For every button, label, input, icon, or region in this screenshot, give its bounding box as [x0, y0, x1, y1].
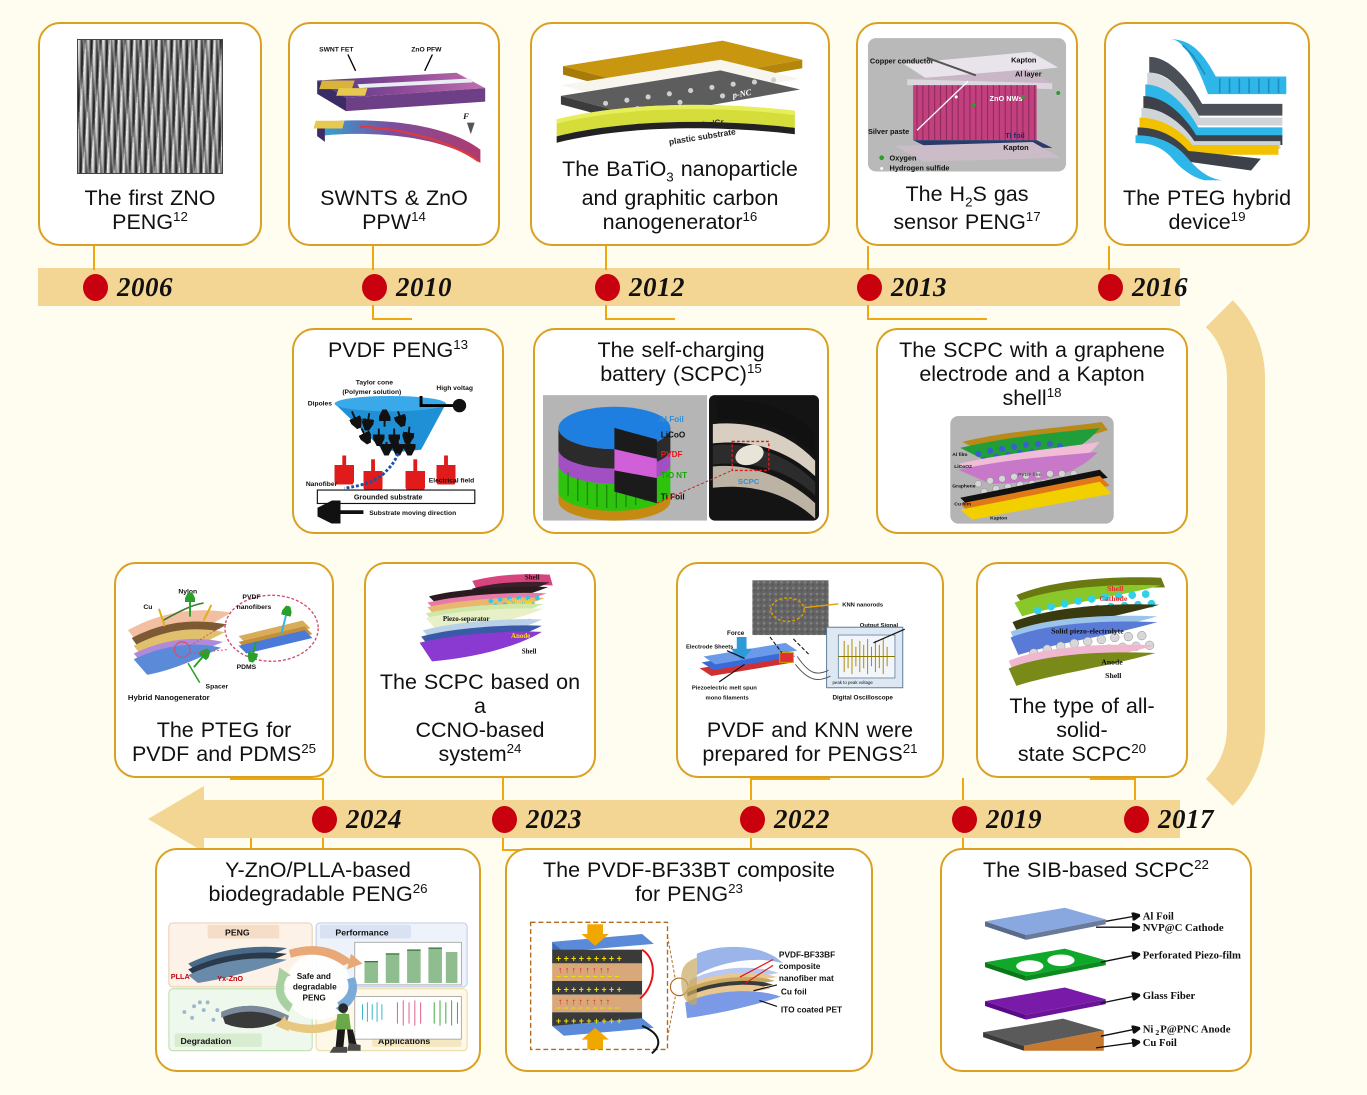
svg-text:composite: composite	[779, 962, 821, 972]
pvdf-bf33bt-svg: + + + + + + + + + + + + + + + + + + + + …	[515, 910, 863, 1064]
svg-text:SCPC: SCPC	[738, 477, 760, 486]
svg-text:Piezo-separator: Piezo-separator	[443, 615, 490, 623]
svg-text:Dipoles: Dipoles	[308, 401, 333, 408]
svg-text:TiO: TiO	[661, 471, 675, 480]
card-pvdf-knn-pengs[interactable]: PVDF and KNN were prepared for PENGS21 K…	[676, 562, 944, 778]
sem-image	[77, 39, 224, 174]
card-caption: Y-ZnO/PLLA-based biodegradable PENG26	[165, 856, 471, 910]
year-marker-2016[interactable]: 2016	[1098, 268, 1188, 306]
ccno-stack-svg: Shell Cathode Piezo-separator Anode Shel…	[374, 570, 586, 668]
connector-2013-down-v	[867, 305, 869, 319]
svg-text:Hydrogen sulfide: Hydrogen sulfide	[890, 163, 950, 172]
year-label: 2012	[629, 272, 685, 303]
sib-stack-svg: Al Foil NVP@C Cathode Perforated Piezo-f…	[950, 886, 1242, 1064]
year-dot-icon	[857, 274, 882, 301]
svg-text:Performance: Performance	[335, 928, 388, 938]
svg-text:nanofibers: nanofibers	[237, 604, 272, 611]
svg-text:Nylon: Nylon	[178, 588, 197, 595]
svg-text:Hybrid Nanogenerator: Hybrid Nanogenerator	[128, 693, 210, 702]
svg-text:Kapton: Kapton	[990, 516, 1007, 522]
year-dot-icon	[362, 274, 387, 301]
year-marker-2023[interactable]: 2023	[492, 800, 582, 838]
connector-2023-up-v	[502, 778, 504, 800]
svg-text:Copper conductor: Copper conductor	[870, 57, 934, 66]
year-label: 2022	[774, 804, 830, 835]
year-label: 2016	[1132, 272, 1188, 303]
svg-text:Shell: Shell	[1105, 671, 1122, 680]
svg-text:ITO coated PET: ITO coated PET	[781, 1005, 842, 1015]
connector-2013-up	[867, 246, 869, 270]
card-caption: The BaTiO3 nanoparticle and graphitic ca…	[540, 155, 820, 238]
svg-text:Silver paste: Silver paste	[868, 127, 909, 136]
svg-text:Solid piezo-electrolyte: Solid piezo-electrolyte	[1051, 627, 1124, 636]
svg-text:Anode: Anode	[511, 632, 530, 640]
svg-text:Glass Fiber: Glass Fiber	[1143, 990, 1196, 1002]
svg-text:Al film: Al film	[952, 452, 968, 458]
figure-sem-nanowire-array	[48, 30, 252, 184]
svg-text:Al layer: Al layer	[1015, 69, 1042, 78]
year-marker-2019[interactable]: 2019	[952, 800, 1042, 838]
card-ccno-scpc[interactable]: The SCPC based on a CCNO-based system24	[364, 562, 596, 778]
card-caption: The PTEG hybrid device19	[1114, 184, 1300, 238]
connector-2010-down-h	[372, 318, 412, 320]
svg-text:peak to peak voltage: peak to peak voltage	[832, 680, 873, 685]
card-caption: PVDF PENG13	[302, 336, 494, 366]
card-caption: The PTEG for PVDF and PDMS25	[124, 716, 324, 770]
figure-electrospinning: Taylor cone (Polymer solution) High volt…	[302, 366, 494, 526]
h2s-sensor-svg: Copper conductor Kapton Al layer ZnO NWs…	[866, 30, 1068, 180]
svg-text:↑ ↑ ↑ ↑ ↑ ↑ ↑ ↑: ↑ ↑ ↑ ↑ ↑ ↑ ↑ ↑	[558, 965, 610, 975]
svg-text:Cu Foil: Cu Foil	[1143, 1037, 1177, 1049]
svg-text:ZnO PFW: ZnO PFW	[411, 47, 442, 54]
svg-text:Piezoelectric melt spun: Piezoelectric melt spun	[692, 686, 757, 692]
year-label: 2017	[1158, 804, 1214, 835]
card-caption: The first ZNO PENG12	[48, 184, 252, 238]
svg-text:F: F	[462, 111, 469, 121]
svg-text:Ti foil: Ti foil	[1005, 131, 1024, 140]
svg-text:Yx-ZnO: Yx-ZnO	[217, 974, 243, 983]
figure-knn-pvdf-setup: KNN nanorods Output Signal Force Electro…	[686, 570, 934, 716]
figure-h2s-sensor: Copper conductor Kapton Al layer ZnO NWs…	[866, 30, 1068, 180]
connector-2012-up	[605, 246, 607, 270]
figure-biodegradable-cycle: PENG Performance Degradation Application…	[165, 910, 471, 1064]
svg-text:2: 2	[1155, 1028, 1159, 1037]
svg-text:High voltag: High voltag	[436, 385, 473, 392]
svg-text:Oxygen: Oxygen	[890, 154, 917, 163]
year-marker-2006[interactable]: 2006	[83, 268, 173, 306]
year-marker-2017[interactable]: 2017	[1124, 800, 1214, 838]
svg-text:Kapton: Kapton	[1011, 56, 1037, 65]
svg-text:Force: Force	[727, 630, 745, 637]
card-biodegradable-peng[interactable]: Y-ZnO/PLLA-based biodegradable PENG26 PE…	[155, 848, 481, 1072]
figure-sib-exploded-stack: Al Foil NVP@C Cathode Perforated Piezo-f…	[950, 886, 1242, 1064]
timeline-figure: 2006 2010 2012 2013 2016 2024 2023 2022 …	[0, 0, 1367, 1095]
svg-text:Graphene: Graphene	[952, 484, 975, 490]
svg-text:KNN nanorods: KNN nanorods	[842, 603, 884, 609]
card-pvdf-peng[interactable]: PVDF PENG13 Taylor cone (Polymer solutio…	[292, 328, 504, 534]
card-pteg-pvdf-pdms[interactable]: The PTEG for PVDF and PDMS25 Nylon Cu	[114, 562, 334, 778]
connector-2019-up-v	[962, 778, 964, 800]
connector-2012-down-v	[605, 305, 607, 319]
svg-text:Anode: Anode	[1101, 658, 1123, 667]
connector-2022-up-v	[750, 778, 752, 800]
card-batio3-nanogenerator[interactable]: The BaTiO3 nanoparticle and graphitic ca…	[530, 22, 830, 246]
svg-text:PVDF-BF33BF: PVDF-BF33BF	[779, 950, 835, 960]
svg-text:NT: NT	[676, 471, 687, 480]
connector-2017-up-v	[1134, 778, 1136, 800]
svg-text:Grounded substrate: Grounded substrate	[354, 493, 423, 502]
card-self-charging-battery[interactable]: The self-charging battery (SCPC)15	[533, 328, 829, 534]
svg-text:NVP@C Cathode: NVP@C Cathode	[1143, 922, 1224, 934]
svg-text:PDMS: PDMS	[237, 664, 257, 671]
figure-all-solid-state-stack: Shell Cathode Solid piezo-electrolyte An…	[986, 570, 1178, 692]
svg-text:Degradation: Degradation	[180, 1036, 231, 1046]
svg-text:Shell: Shell	[522, 648, 537, 656]
swnt-fet-schematic-svg: SWNT FET ZnO PFW F	[298, 30, 490, 184]
year-dot-icon	[595, 274, 620, 301]
connector-2010-down-v	[372, 305, 374, 319]
connector-2010-up	[372, 246, 374, 270]
connector-2024-up-v	[322, 778, 324, 800]
svg-text:PVDF film: PVDF film	[1018, 472, 1042, 478]
svg-text:SWNT FET: SWNT FET	[319, 47, 354, 54]
svg-text:(Polymer solution): (Polymer solution)	[342, 389, 401, 396]
svg-text:Al Foil: Al Foil	[659, 415, 684, 424]
card-sib-based-scpc[interactable]: The SIB-based SCPC22	[940, 848, 1252, 1072]
card-pteg-hybrid-device[interactable]: The PTEG hybrid device19	[1104, 22, 1310, 246]
connector-2022-up-h	[750, 778, 830, 780]
figure-batio3-stack: p-NC Au/Cr plastic substrate	[540, 30, 820, 155]
connector-2024-up-h	[230, 778, 324, 780]
year-label: 2023	[526, 804, 582, 835]
batio3-stack-svg: p-NC Au/Cr plastic substrate	[540, 30, 820, 155]
svg-text:Cathode: Cathode	[1099, 594, 1127, 603]
timeline-arrow-head-left	[148, 786, 204, 852]
year-label: 2024	[346, 804, 402, 835]
year-label: 2019	[986, 804, 1042, 835]
graphene-kapton-svg: Al film LiCoO2 Graphene PVDF film Cu fil…	[886, 414, 1178, 526]
year-dot-icon	[312, 806, 337, 833]
figure-ccno-stack: Shell Cathode Piezo-separator Anode Shel…	[374, 570, 586, 668]
svg-text:mono filaments: mono filaments	[706, 695, 750, 701]
svg-text:Electrode Sheets: Electrode Sheets	[686, 645, 734, 651]
svg-text:+ + + + + + + + +: + + + + + + + + +	[556, 954, 622, 964]
figure-scpc-cell-and-photo: Al Foil LiCoO PVDF TiO NT Ti Foil SCPC	[543, 390, 819, 526]
card-caption: The self-charging battery (SCPC)15	[543, 336, 819, 390]
svg-text:PVDF: PVDF	[661, 450, 683, 459]
year-marker-2013[interactable]: 2013	[857, 268, 947, 306]
svg-text:LiCoO2: LiCoO2	[954, 464, 972, 470]
figure-hybrid-nanogenerator: Nylon Cu PVDF nan	[124, 570, 324, 716]
svg-text:Cu foil: Cu foil	[781, 987, 807, 997]
card-caption: The H2S gas sensor PENG17	[866, 180, 1068, 238]
svg-text:P@PNC Anode: P@PNC Anode	[1160, 1024, 1230, 1036]
connector-2012-down-h	[605, 318, 675, 320]
connector-2016-up	[1108, 246, 1110, 270]
svg-text:Substrate moving direction: Substrate moving direction	[369, 510, 456, 517]
card-graphene-kapton-scpc[interactable]: The SCPC with a graphene electrode and a…	[876, 328, 1188, 534]
electrospinning-svg: Taylor cone (Polymer solution) High volt…	[302, 366, 494, 526]
year-dot-icon	[952, 806, 977, 833]
svg-text:Spacer: Spacer	[206, 683, 229, 690]
svg-text:ZnO NWs: ZnO NWs	[990, 94, 1023, 103]
svg-text:Cathode: Cathode	[508, 598, 533, 606]
card-caption: SWNTS & ZnO PPW14	[298, 184, 490, 238]
year-dot-icon	[1124, 806, 1149, 833]
svg-text:+ + + + + + + + +: + + + + + + + + +	[556, 985, 622, 995]
year-dot-icon	[740, 806, 765, 833]
card-caption: The SIB-based SCPC22	[950, 856, 1242, 886]
svg-text:Electrical field: Electrical field	[429, 478, 475, 485]
year-marker-2022[interactable]: 2022	[740, 800, 830, 838]
all-solid-state-svg: Shell Cathode Solid piezo-electrolyte An…	[986, 570, 1178, 692]
card-caption: The type of all-solid- state SCPC20	[986, 692, 1178, 770]
pteg-stack-svg	[1114, 30, 1300, 184]
card-caption: The SCPC with a graphene electrode and a…	[886, 336, 1178, 414]
card-all-solid-state-scpc[interactable]: The type of all-solid- state SCPC20	[976, 562, 1188, 778]
svg-text:Shell: Shell	[1107, 584, 1124, 593]
svg-text:PVDF: PVDF	[242, 594, 260, 601]
card-caption: The SCPC based on a CCNO-based system24	[374, 668, 586, 770]
svg-text:Ti Foil: Ti Foil	[661, 493, 685, 502]
connector-2006	[93, 246, 95, 270]
svg-text:degradable: degradable	[293, 983, 337, 992]
svg-text:nanofiber mat: nanofiber mat	[779, 973, 834, 983]
svg-text:Perforated Piezo-film: Perforated Piezo-film	[1143, 950, 1241, 962]
year-marker-2010[interactable]: 2010	[362, 268, 452, 306]
figure-pvdf-bf33bt-stack: + + + + + + + + + + + + + + + + + + + + …	[515, 910, 863, 1064]
svg-text:↑ ↑ ↑ ↑ ↑ ↑ ↑ ↑: ↑ ↑ ↑ ↑ ↑ ↑ ↑ ↑	[558, 997, 610, 1007]
biodegradable-cycle-svg: PENG Performance Degradation Application…	[165, 910, 471, 1064]
svg-text:Digital Oscilloscope: Digital Oscilloscope	[832, 694, 893, 701]
figure-graphene-kapton-stack: Al film LiCoO2 Graphene PVDF film Cu fil…	[886, 414, 1178, 526]
knn-pvdf-setup-svg: KNN nanorods Output Signal Force Electro…	[686, 570, 934, 716]
year-dot-icon	[1098, 274, 1123, 301]
svg-text:Kapton: Kapton	[1003, 143, 1029, 152]
figure-pteg-hybrid-stack	[1114, 30, 1300, 184]
year-label: 2010	[396, 272, 452, 303]
year-dot-icon	[83, 274, 108, 301]
card-h2s-gas-sensor-peng[interactable]: The H2S gas sensor PENG17	[856, 22, 1078, 246]
svg-text:Cu: Cu	[143, 604, 152, 611]
svg-text:Shell: Shell	[525, 573, 540, 581]
year-label: 2006	[117, 272, 173, 303]
svg-text:PLLA: PLLA	[171, 972, 191, 981]
year-marker-2024[interactable]: 2024	[312, 800, 402, 838]
svg-text:Cu film: Cu film	[954, 502, 971, 508]
svg-text:Nanofiber: Nanofiber	[306, 481, 338, 488]
svg-text:Al Foil: Al Foil	[1143, 911, 1174, 923]
hybrid-nanogenerator-svg: Nylon Cu PVDF nan	[124, 570, 324, 716]
svg-text:Taylor cone: Taylor cone	[356, 380, 393, 387]
connector-2013-down-h	[867, 318, 987, 320]
card-first-zno-peng[interactable]: The first ZNO PENG12	[38, 22, 262, 246]
svg-text:PENG: PENG	[303, 994, 326, 1003]
year-label: 2013	[891, 272, 947, 303]
card-caption: PVDF and KNN were prepared for PENGS21	[686, 716, 934, 770]
connector-2017-up-h	[1090, 778, 1136, 780]
card-pvdf-bf33bt-composite[interactable]: The PVDF-BF33BT composite for PENG23 + +…	[505, 848, 873, 1072]
svg-text:LiCoO: LiCoO	[661, 431, 686, 440]
card-caption: The PVDF-BF33BT composite for PENG23	[515, 856, 863, 910]
card-swnts-zno-ppw[interactable]: SWNTS & ZnO PPW14 SWNT FET ZnO PFW	[288, 22, 500, 246]
figure-swnt-fet-zno-pfw: SWNT FET ZnO PFW F	[298, 30, 490, 184]
scpc-cell-svg: Al Foil LiCoO PVDF TiO NT Ti Foil SCPC	[543, 390, 819, 526]
year-marker-2012[interactable]: 2012	[595, 268, 685, 306]
year-dot-icon	[492, 806, 517, 833]
svg-text:PENG: PENG	[225, 928, 250, 938]
svg-text:+ + + + + + + + +: + + + + + + + + +	[556, 1016, 622, 1026]
svg-text:Safe and: Safe and	[297, 972, 331, 981]
svg-text:Ni: Ni	[1143, 1024, 1154, 1036]
